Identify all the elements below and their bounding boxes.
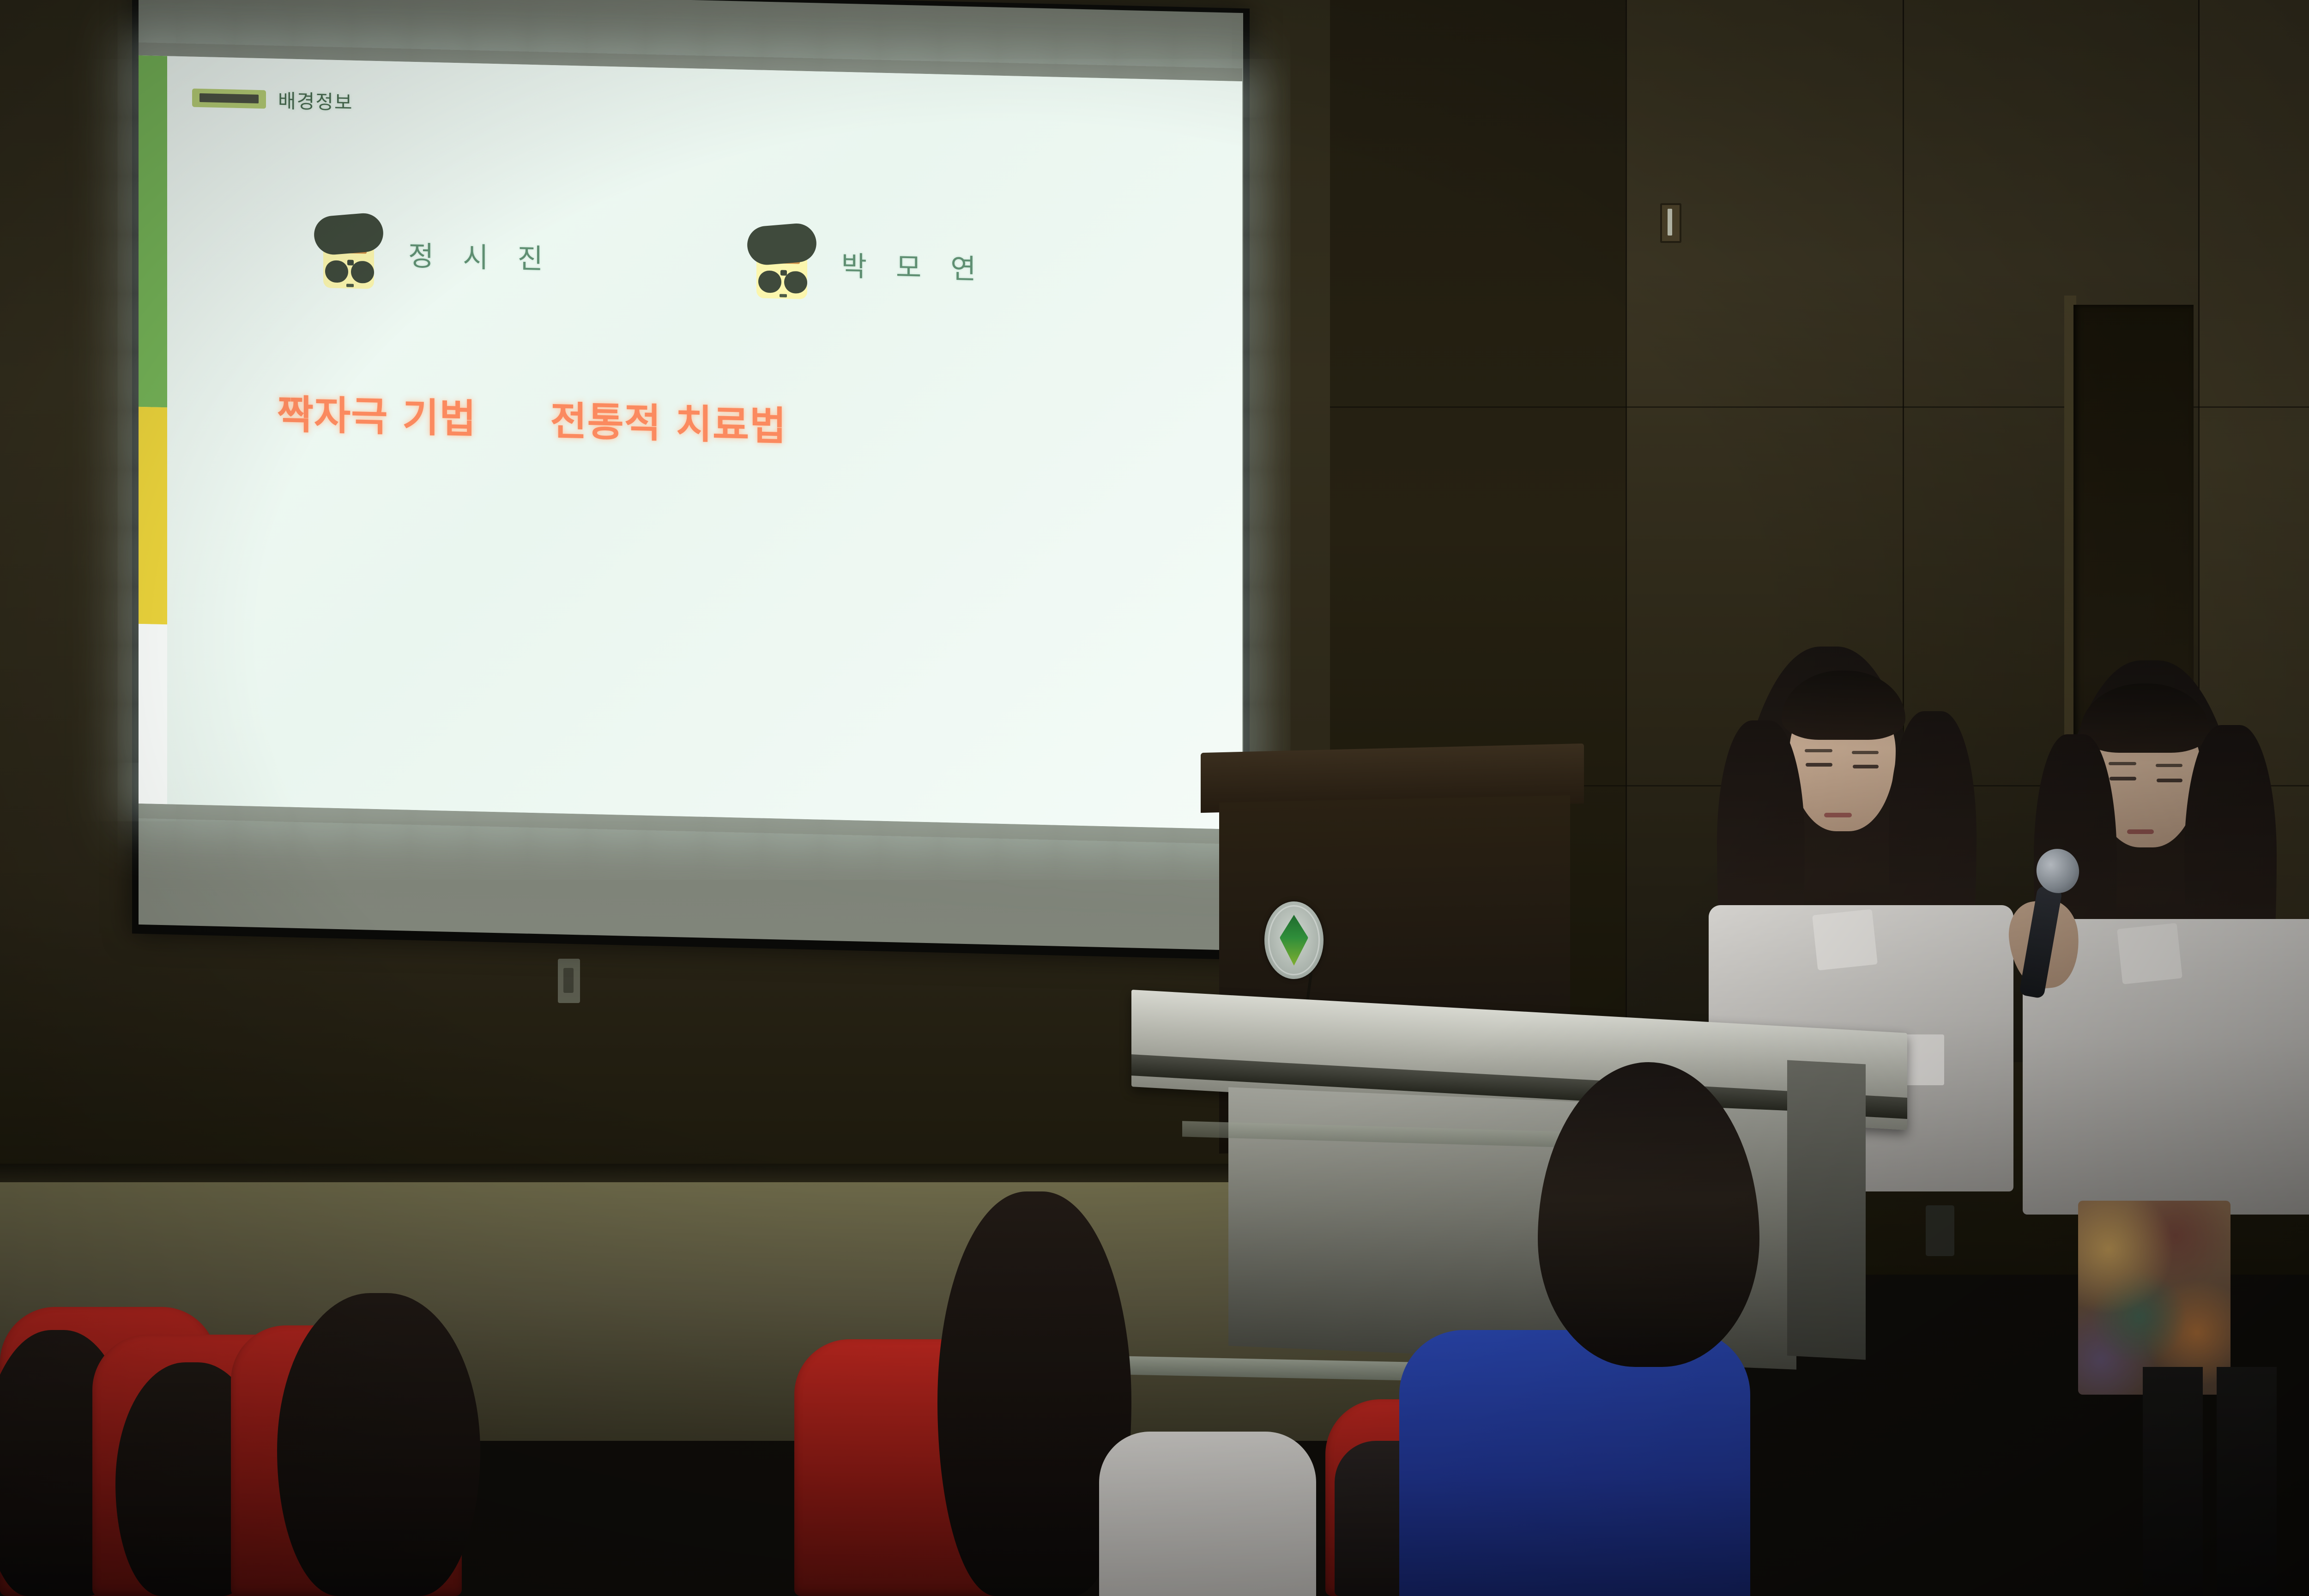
- avatar-hair-shape: [312, 212, 385, 256]
- slide-canvas: 배경정보 정 시 진: [139, 55, 1242, 829]
- presenter-left-lips: [1824, 813, 1852, 817]
- lectern-support-leg: [1787, 1060, 1866, 1360]
- avatar-glasses-bridge: [780, 270, 787, 276]
- presenter-right-brow: [2109, 762, 2136, 765]
- lectern-latch: [1926, 1205, 1954, 1256]
- chip-inner-bar: [199, 93, 259, 103]
- university-crest-leaf-icon: [1264, 901, 1324, 979]
- presentation-scene: 배경정보 정 시 진: [0, 0, 2309, 1596]
- presenter-right-leg: [2217, 1367, 2277, 1596]
- person-name-label: 정 시 진: [408, 233, 553, 277]
- wall-speaker-mount-icon: [1660, 203, 1681, 243]
- wall-seam: [1626, 0, 1627, 1062]
- avatar-left-lens: [325, 260, 348, 283]
- avatar-left-lens: [758, 270, 781, 293]
- avatar-hair-shape: [745, 222, 818, 266]
- crest-ring: [1268, 905, 1320, 975]
- slide-topic-row: 짝자극 기법 전통적 치료법: [139, 379, 1242, 462]
- presenter-right-lips: [2127, 829, 2154, 834]
- presenter-right-eye: [2157, 779, 2182, 782]
- accent-blank-block: [139, 624, 167, 804]
- person-name-label: 박 모 연: [841, 243, 986, 287]
- avatar-right-lens: [784, 271, 807, 294]
- audience-white-shirt-shoulders: [1099, 1432, 1316, 1596]
- slide-person-row: 정 시 진 박 모 연: [139, 208, 1242, 312]
- presenter-left-eye: [1806, 763, 1832, 767]
- cartoon-face-sunglasses-icon: [747, 222, 816, 302]
- avatar-right-lens: [351, 261, 374, 284]
- presenter-right-skirt: [2078, 1201, 2230, 1395]
- presenter-left-brow: [1852, 751, 1879, 754]
- presenter-left-collar: [1812, 909, 1878, 971]
- projected-slide: 배경정보 정 시 진: [139, 55, 1242, 829]
- person-entry: 정 시 진: [314, 212, 553, 296]
- cartoon-face-sunglasses-icon: [314, 212, 382, 292]
- avatar-glasses-bridge: [347, 260, 354, 265]
- wall-outlet-icon: [558, 959, 580, 1003]
- audience-member-long-hair-center: [277, 1293, 480, 1596]
- presenter-right-eye: [2110, 777, 2136, 780]
- presenter-right-brow: [2156, 764, 2182, 767]
- presenter-left-brow: [1805, 749, 1832, 752]
- accent-yellow-block: [139, 407, 167, 624]
- person-entry: 박 모 연: [747, 222, 986, 306]
- topic-label-left: 짝자극 기법: [277, 382, 477, 444]
- audience-member-blue-shirt: [1399, 1330, 1750, 1596]
- slide-header: 배경정보: [192, 84, 353, 115]
- presenter-right-collar: [2117, 923, 2182, 985]
- avatar-mouth: [780, 294, 787, 297]
- presenter-left-eye: [1853, 765, 1879, 768]
- green-bar-chip-icon: [192, 88, 266, 109]
- slide-header-title: 배경정보: [278, 85, 353, 115]
- avatar-mouth: [346, 284, 354, 287]
- topic-label-right: 전통적 치료법: [550, 388, 901, 454]
- presenter-right-leg: [2143, 1367, 2203, 1596]
